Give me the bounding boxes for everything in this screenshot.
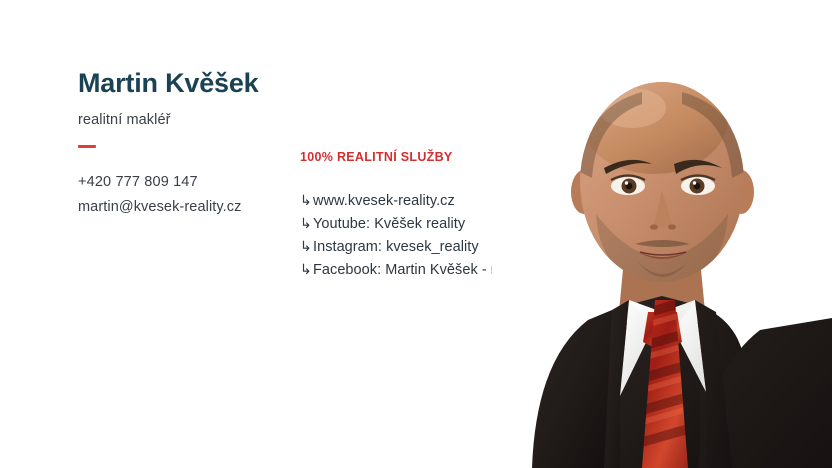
link-website: www.kvesek-reality.cz [313, 190, 455, 212]
corner-arrow-icon: ↳ [300, 259, 313, 280]
portrait-illustration [492, 0, 832, 468]
avatar [492, 0, 832, 468]
business-card: Martin Kvěšek realitní makléř +420 777 8… [0, 0, 832, 468]
contact-block: +420 777 809 147 martin@kvesek-reality.c… [78, 171, 308, 219]
page-title: Martin Kvěšek [78, 68, 308, 99]
agent-role-label: realitní makléř [78, 112, 308, 128]
corner-arrow-icon: ↳ [300, 213, 313, 234]
link-youtube: Youtube: Kvěšek reality [313, 213, 465, 235]
corner-arrow-icon: ↳ [300, 236, 313, 257]
corner-arrow-icon: ↳ [300, 190, 313, 211]
link-instagram: Instagram: kvesek_reality [313, 236, 479, 258]
divider [78, 145, 96, 148]
phone-number[interactable]: +420 777 809 147 [78, 171, 308, 193]
identity-block: Martin Kvěšek realitní makléř +420 777 8… [78, 68, 308, 218]
email-address[interactable]: martin@kvesek-reality.cz [78, 196, 308, 218]
